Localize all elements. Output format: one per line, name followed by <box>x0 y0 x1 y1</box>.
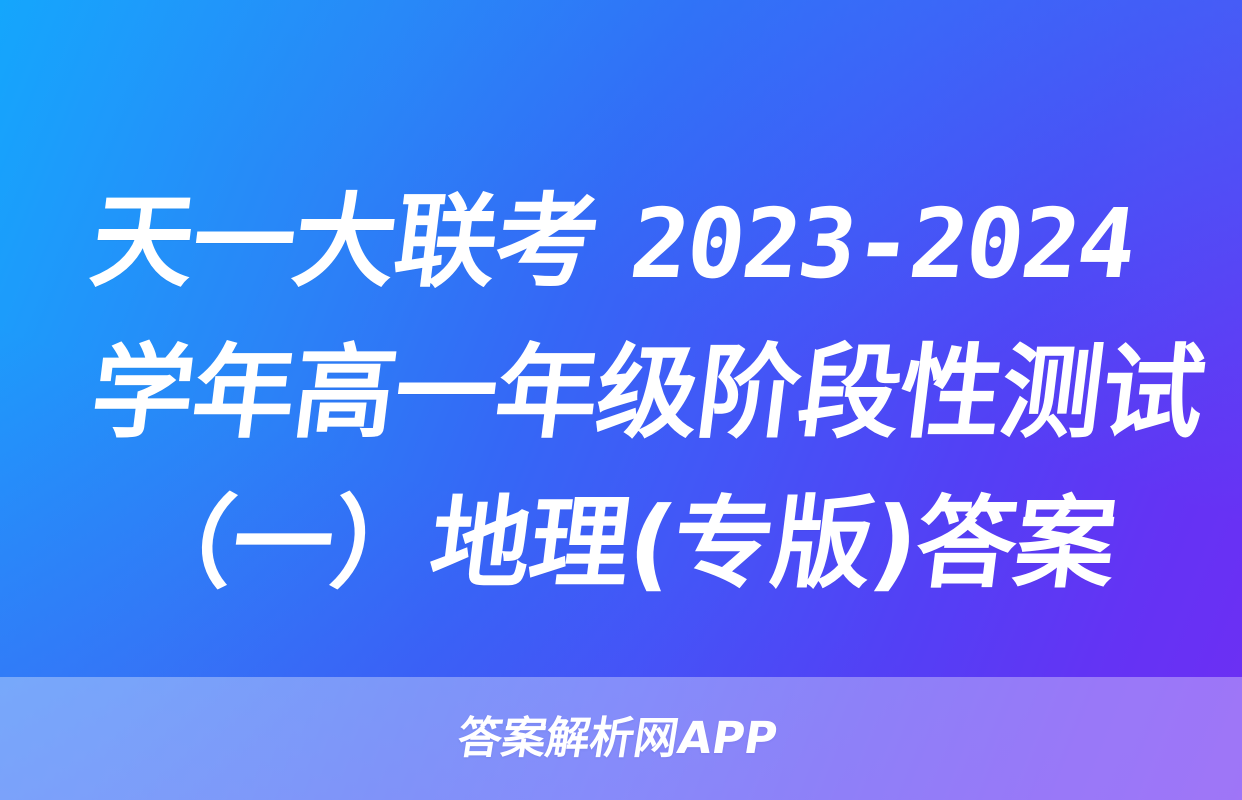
watermark-label: 答案解析网APP <box>454 717 780 761</box>
title-line-1: 天一大联考 2023-2024 <box>83 168 1174 319</box>
title-line-3: （一）地理(专版)答案 <box>83 469 1173 619</box>
title-line-1-cjk: 天一大联考 <box>85 183 639 302</box>
title-line-2: 学年高一年级阶段性测试 <box>83 319 1173 469</box>
title-line-3-cjk: （一）地理(专版)答案 <box>127 485 1122 602</box>
poster-title-block: 天一大联考 2023-2024 学年高一年级阶段性测试 （一）地理(专版)答案 <box>0 168 1242 619</box>
poster-canvas: 天一大联考 2023-2024 学年高一年级阶段性测试 （一）地理(专版)答案 … <box>0 0 1242 800</box>
watermark-band: 答案解析网APP <box>0 677 1242 800</box>
title-line-2-cjk: 学年高一年级阶段性测试 <box>85 334 1211 453</box>
title-line-1-year-range: 2023-2024 <box>625 188 1141 300</box>
